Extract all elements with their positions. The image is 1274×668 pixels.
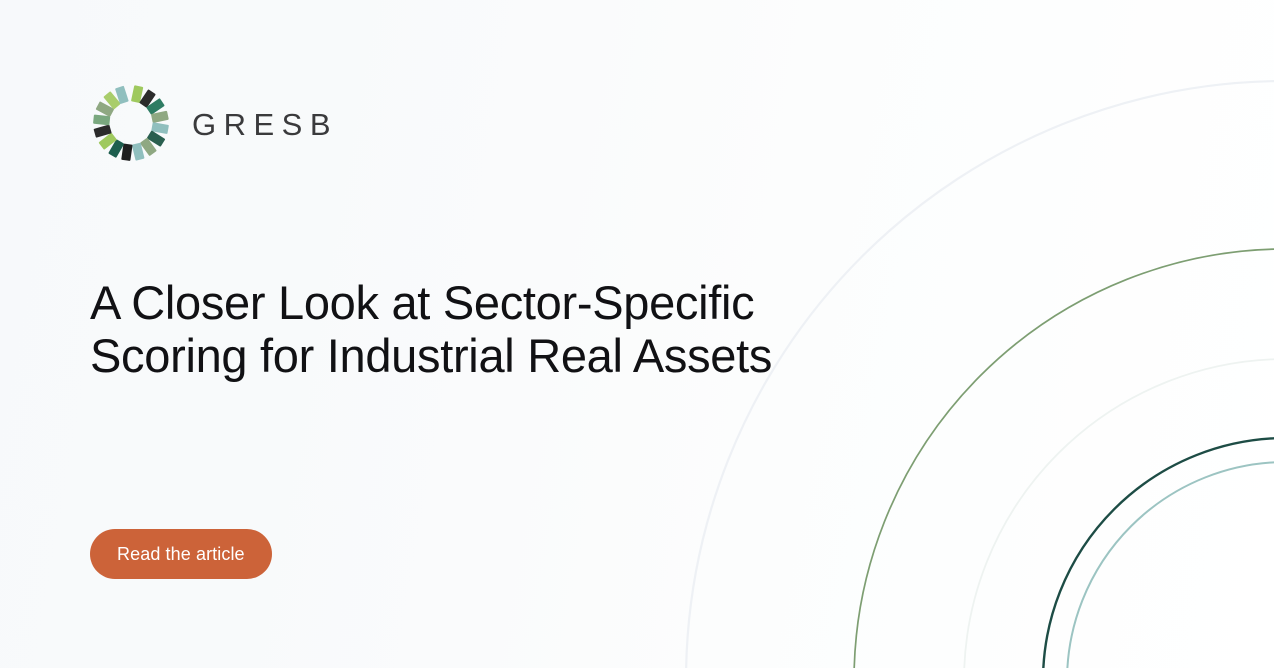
- dark-teal-arc: [1043, 438, 1274, 668]
- gresb-logo-lockup[interactable]: GRESB: [90, 82, 338, 164]
- headline-line-2: Scoring for Industrial Real Assets: [90, 329, 772, 382]
- article-promo-card: GRESB A Closer Look at Sector-Specific S…: [0, 0, 1274, 668]
- light-teal-arc: [1067, 462, 1274, 668]
- headline-line-1: A Closer Look at Sector-Specific: [90, 276, 754, 329]
- inner-faint-arc: [964, 359, 1274, 668]
- gresb-wordmark: GRESB: [192, 107, 338, 140]
- read-the-article-button[interactable]: Read the article: [90, 529, 272, 579]
- gresb-circular-segments-logo-icon: [90, 82, 172, 164]
- page-title: A Closer Look at Sector-Specific Scoring…: [90, 276, 920, 382]
